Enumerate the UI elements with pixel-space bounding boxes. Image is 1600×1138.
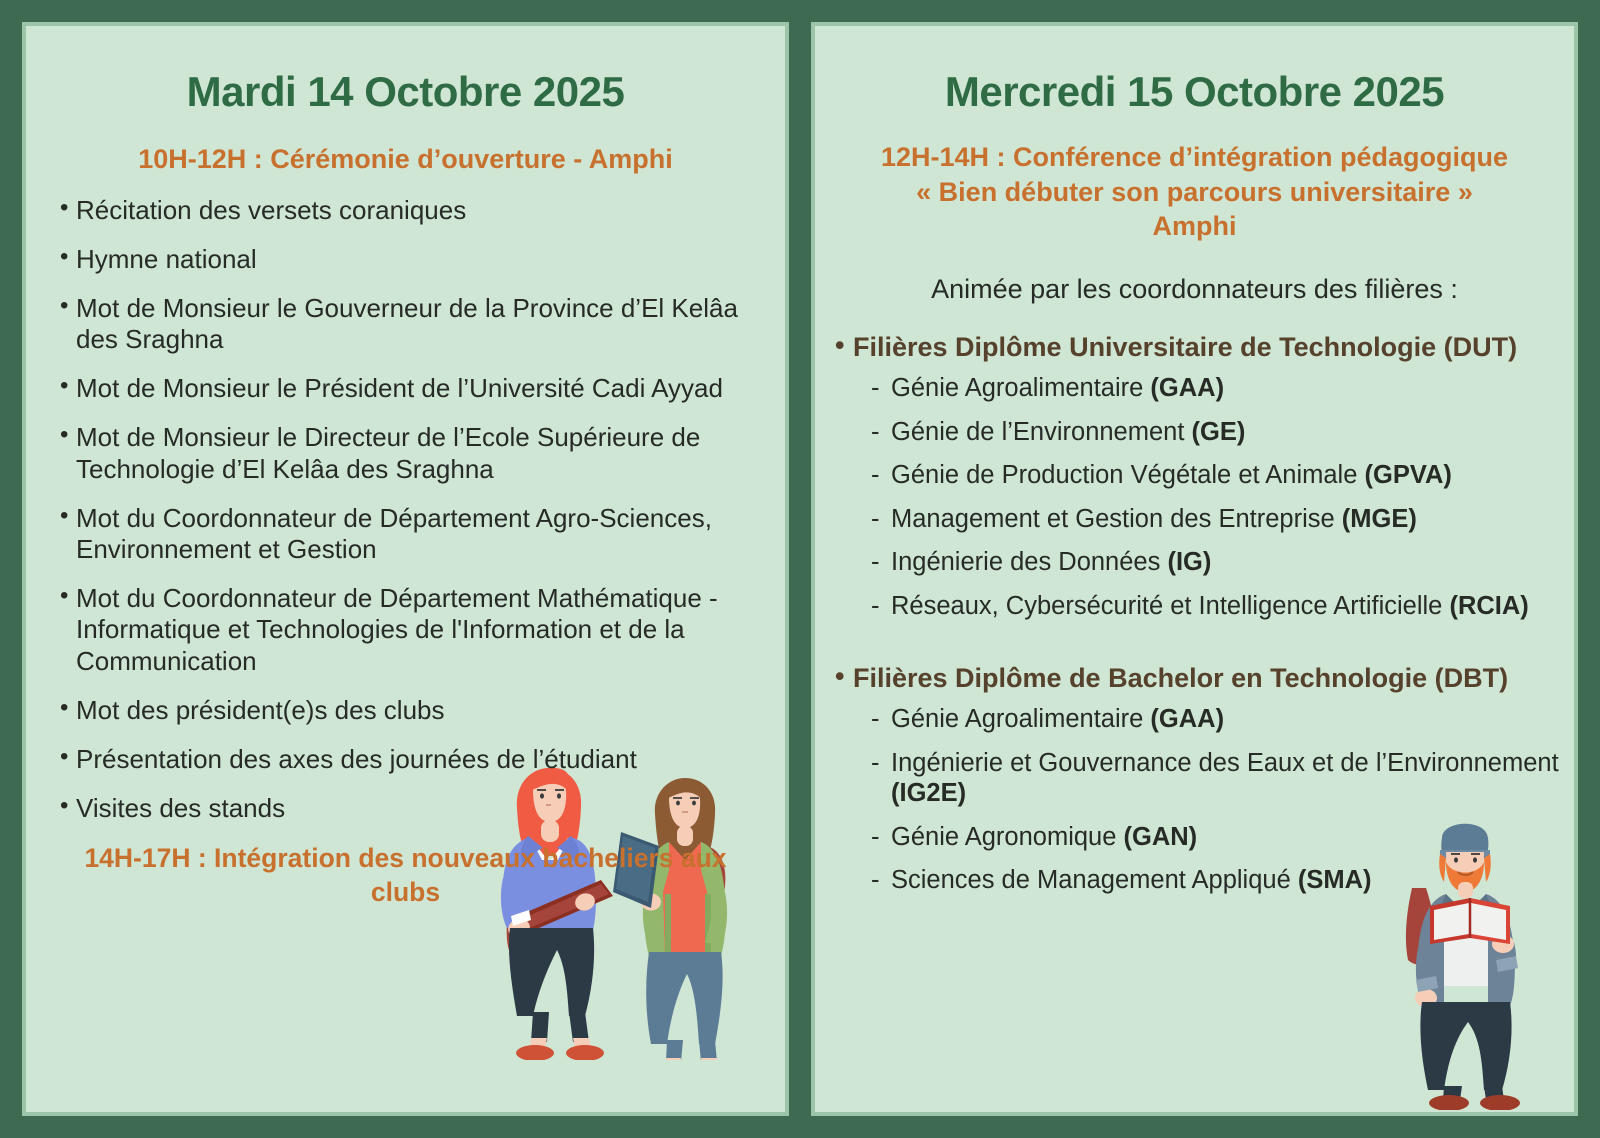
page-title-wednesday: Mercredi 15 Octobre 2025 (815, 68, 1574, 116)
programme-item-name: Ingénierie des Données (891, 548, 1160, 576)
programme-item-name: Ingénierie et Gouvernance des Eaux et de… (891, 749, 1559, 777)
list-item: Génie de l’Environnement (GE) (871, 417, 1562, 448)
day-panel-wednesday: Mercredi 15 Octobre 2025 12H-14H : Confé… (811, 22, 1578, 1116)
list-item: Mot du Coordonnateur de Département Math… (60, 583, 759, 677)
programme-item-name: Génie de l’Environnement (891, 418, 1184, 446)
list-item: Ingénierie des Données (IG) (871, 547, 1562, 578)
session-header-club-integration: 14H-17H : Intégration des nouveaux bache… (26, 842, 785, 910)
list-item: Mot de Monsieur le Gouverneur de la Prov… (60, 293, 759, 355)
programme-item-list: Génie Agroalimentaire (GAA)Ingénierie et… (835, 704, 1562, 896)
programme-item-name: Réseaux, Cybersécurité et Intelligence A… (891, 592, 1442, 620)
programme-item-name: Génie Agronomique (891, 823, 1116, 851)
list-item: Récitation des versets coraniques (60, 195, 759, 226)
programme-group: Filières Diplôme de Bachelor en Technolo… (815, 662, 1574, 896)
list-item: Hymne national (60, 244, 759, 275)
list-item: Mot des président(e)s des clubs (60, 695, 759, 726)
programme-item-name: Sciences de Management Appliqué (891, 866, 1291, 894)
programme-group: Filières Diplôme Universitaire de Techno… (815, 331, 1574, 622)
day-panel-tuesday: Mardi 14 Octobre 2025 10H-12H : Cérémoni… (22, 22, 789, 1116)
programme-item-list: Génie Agroalimentaire (GAA)Génie de l’En… (835, 373, 1562, 622)
list-item: Présentation des axes des journées de l’… (60, 744, 759, 775)
programme-groups: Filières Diplôme Universitaire de Techno… (815, 331, 1574, 896)
programme-group-title: Filières Diplôme Universitaire de Techno… (835, 331, 1562, 363)
list-item: Génie de Production Végétale et Animale … (871, 460, 1562, 491)
poster-root: Mardi 14 Octobre 2025 10H-12H : Cérémoni… (0, 0, 1600, 1138)
programme-item-name: Génie Agroalimentaire (891, 705, 1143, 733)
programme-item-name: Génie de Production Végétale et Animale (891, 461, 1357, 489)
conference-line-3: Amphi (831, 209, 1558, 244)
programme-item-code: (GE) (1192, 418, 1246, 446)
list-item: Génie Agronomique (GAN) (871, 822, 1562, 853)
programme-item-code: (GAA) (1150, 374, 1224, 402)
programme-item-code: (GAN) (1124, 823, 1198, 851)
list-item: Mot de Monsieur le Directeur de l’Ecole … (60, 422, 759, 484)
programme-item-name: Génie Agroalimentaire (891, 374, 1143, 402)
programme-item-code: (GAA) (1150, 705, 1224, 733)
programme-group-title: Filières Diplôme de Bachelor en Technolo… (835, 662, 1562, 694)
conference-hosts-note: Animée par les coordonnateurs des filièr… (815, 274, 1574, 305)
list-item: Management et Gestion des Entreprise (MG… (871, 504, 1562, 535)
list-item: Génie Agroalimentaire (GAA) (871, 704, 1562, 735)
programme-item-code: (SMA) (1298, 866, 1372, 894)
programme-item-code: (IG2E) (891, 779, 966, 807)
list-item: Mot du Coordonnateur de Département Agro… (60, 503, 759, 565)
session-header-opening-ceremony: 10H-12H : Cérémonie d’ouverture - Amphi (26, 142, 785, 177)
list-item: Visites des stands (60, 793, 759, 824)
programme-item-name: Management et Gestion des Entreprise (891, 505, 1335, 533)
programme-item-code: (GPVA) (1365, 461, 1452, 489)
list-item: Ingénierie et Gouvernance des Eaux et de… (871, 748, 1562, 809)
list-item: Mot de Monsieur le Président de l’Univer… (60, 373, 759, 404)
conference-line-2: « Bien débuter son parcours universitair… (831, 175, 1558, 210)
list-item: Génie Agroalimentaire (GAA) (871, 373, 1562, 404)
agenda-list-tuesday: Récitation des versets coraniquesHymne n… (26, 195, 785, 825)
list-item: Réseaux, Cybersécurité et Intelligence A… (871, 591, 1562, 622)
session-header-pedagogical-conference: 12H-14H : Conférence d’intégration pédag… (815, 140, 1574, 244)
programme-item-code: (MGE) (1342, 505, 1417, 533)
programme-item-code: (RCIA) (1449, 592, 1528, 620)
programme-item-code: (IG) (1167, 548, 1211, 576)
list-item: Sciences de Management Appliqué (SMA) (871, 865, 1562, 896)
conference-line-1: 12H-14H : Conférence d’intégration pédag… (831, 140, 1558, 175)
page-title-tuesday: Mardi 14 Octobre 2025 (26, 68, 785, 116)
